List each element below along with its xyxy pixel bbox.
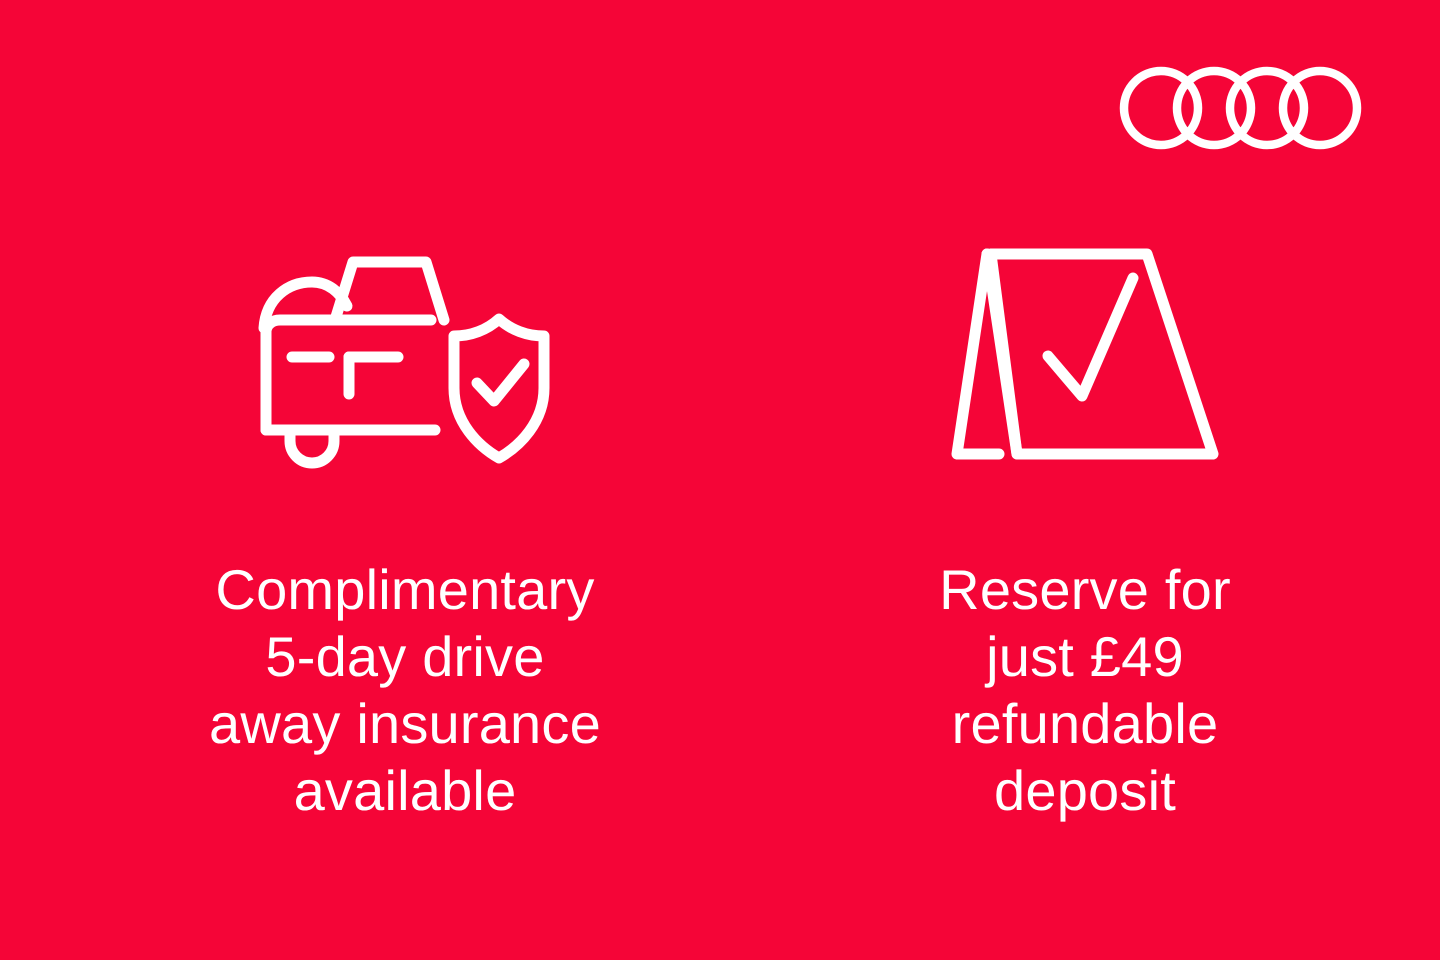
folded-card-check-icon [951, 240, 1219, 462]
promo-banner: Complimentary 5-day drive away insurance… [0, 0, 1440, 960]
feature-deposit-caption: Reserve for just £49 refundable deposit [939, 556, 1231, 824]
feature-insurance-icon-wrap [252, 240, 558, 490]
feature-deposit: Reserve for just £49 refundable deposit [805, 240, 1365, 824]
car-shield-check-icon [258, 240, 558, 462]
feature-insurance: Complimentary 5-day drive away insurance… [125, 240, 685, 824]
audi-four-rings-logo [1118, 60, 1372, 156]
audi-four-rings-icon [1118, 60, 1372, 156]
feature-deposit-icon-wrap [951, 240, 1219, 490]
feature-insurance-caption: Complimentary 5-day drive away insurance… [209, 556, 601, 824]
